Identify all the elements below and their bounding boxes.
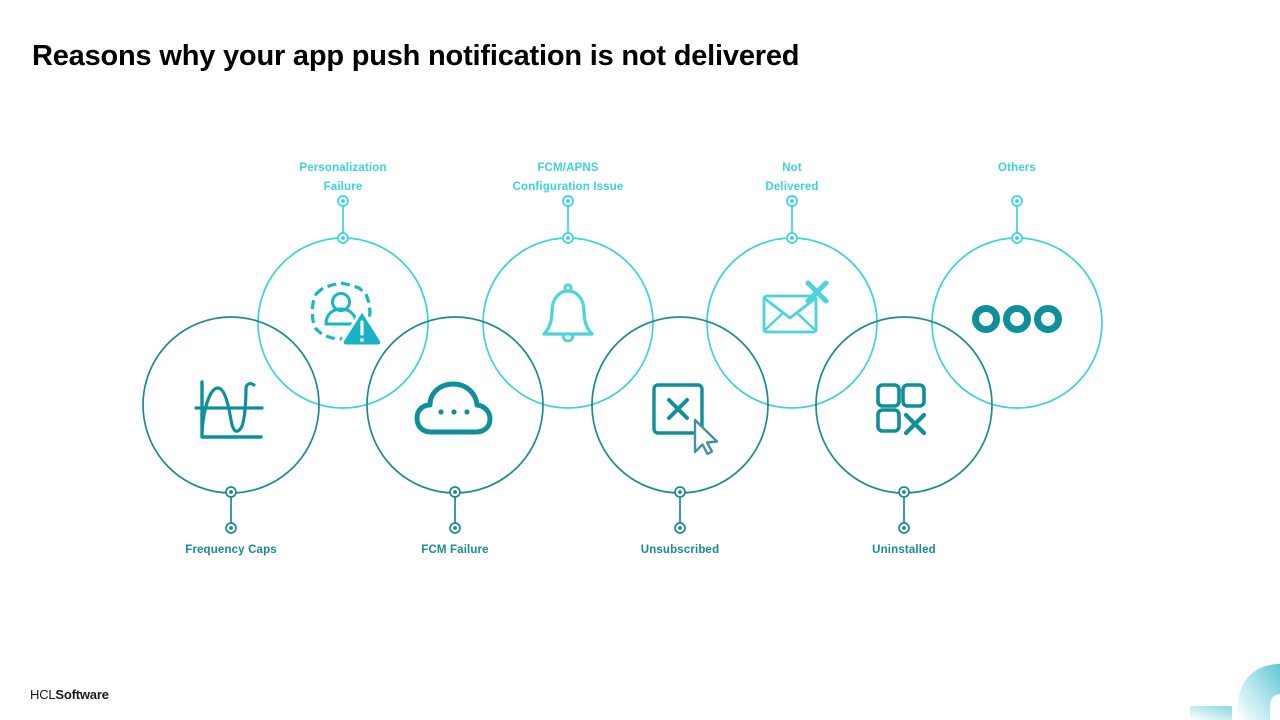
circle-fcm-apns-configuration-issue bbox=[483, 238, 653, 408]
node-others[interactable] bbox=[932, 196, 1102, 408]
circle-others bbox=[932, 238, 1102, 408]
connector-dot-inner-others bbox=[1015, 199, 1019, 203]
node-fcm-apns-configuration-issue[interactable] bbox=[483, 196, 653, 408]
connector-dot-inner-personalization-failure bbox=[341, 199, 345, 203]
label-frequency-caps: Frequency Caps bbox=[185, 541, 277, 560]
label-personalization-failure: Personalization Failure bbox=[299, 159, 386, 197]
bottom-row-group bbox=[143, 317, 992, 533]
logo-text-bold: Software bbox=[55, 687, 108, 702]
node-uninstalled[interactable] bbox=[816, 317, 992, 533]
node-personalization-failure[interactable] bbox=[258, 196, 428, 408]
infographic-diagram bbox=[0, 0, 1280, 720]
anchor-dot-inner-unsubscribed bbox=[678, 490, 682, 494]
anchor-dot-inner-fcm-failure bbox=[453, 490, 457, 494]
bell-icon bbox=[544, 285, 592, 341]
label-line-2: Failure bbox=[299, 178, 386, 197]
label-fcm-apns-configuration-issue: FCM/APNS Configuration Issue bbox=[513, 159, 624, 197]
logo-text-light: HCL bbox=[30, 687, 55, 702]
top-row-group bbox=[258, 196, 1102, 408]
label-line-1: Personalization bbox=[299, 159, 386, 178]
connector-dot-inner-fcm-failure bbox=[453, 526, 457, 530]
connector-dot-inner-unsubscribed bbox=[678, 526, 682, 530]
circle-frequency-caps bbox=[143, 317, 319, 493]
app-grid-x-icon bbox=[878, 385, 924, 433]
envelope-x-icon bbox=[764, 283, 826, 332]
label-fcm-failure: FCM Failure bbox=[421, 541, 488, 560]
label-others: Others bbox=[998, 159, 1036, 178]
hcl-software-logo: HCLSoftware bbox=[30, 687, 109, 702]
wave-chart-icon bbox=[196, 382, 262, 437]
label-line-2: Configuration Issue bbox=[513, 178, 624, 197]
anchor-dot-inner-fcm-apns-configuration-issue bbox=[566, 236, 570, 240]
anchor-dot-inner-frequency-caps bbox=[229, 490, 233, 494]
node-unsubscribed[interactable] bbox=[592, 317, 768, 533]
node-fcm-failure[interactable] bbox=[367, 317, 543, 533]
label-uninstalled: Uninstalled bbox=[872, 541, 936, 560]
label-line-1: Not bbox=[765, 159, 818, 178]
label-line-1: FCM/APNS bbox=[513, 159, 624, 178]
label-not-delivered: Not Delivered bbox=[765, 159, 818, 197]
three-dots-icon bbox=[976, 309, 1059, 330]
anchor-dot-inner-others bbox=[1015, 236, 1019, 240]
anchor-dot-inner-uninstalled bbox=[902, 490, 906, 494]
gear-person-warning-icon bbox=[312, 283, 382, 346]
node-not-delivered[interactable] bbox=[707, 196, 877, 408]
label-line-2: Others bbox=[998, 159, 1036, 178]
square-x-cursor-icon bbox=[654, 385, 717, 454]
cloud-dots-icon bbox=[417, 384, 490, 432]
anchor-dot-inner-personalization-failure bbox=[341, 236, 345, 240]
connector-dot-inner-uninstalled bbox=[902, 526, 906, 530]
circle-fcm-failure bbox=[367, 317, 543, 493]
connector-dot-inner-not-delivered bbox=[790, 199, 794, 203]
anchor-dot-inner-not-delivered bbox=[790, 236, 794, 240]
circle-not-delivered bbox=[707, 238, 877, 408]
connector-dot-inner-fcm-apns-configuration-issue bbox=[566, 199, 570, 203]
label-unsubscribed: Unsubscribed bbox=[641, 541, 719, 560]
slide-canvas: Reasons why your app push notification i… bbox=[0, 0, 1280, 720]
connector-dot-inner-frequency-caps bbox=[229, 526, 233, 530]
label-line-2: Delivered bbox=[765, 178, 818, 197]
node-frequency-caps[interactable] bbox=[143, 317, 319, 533]
